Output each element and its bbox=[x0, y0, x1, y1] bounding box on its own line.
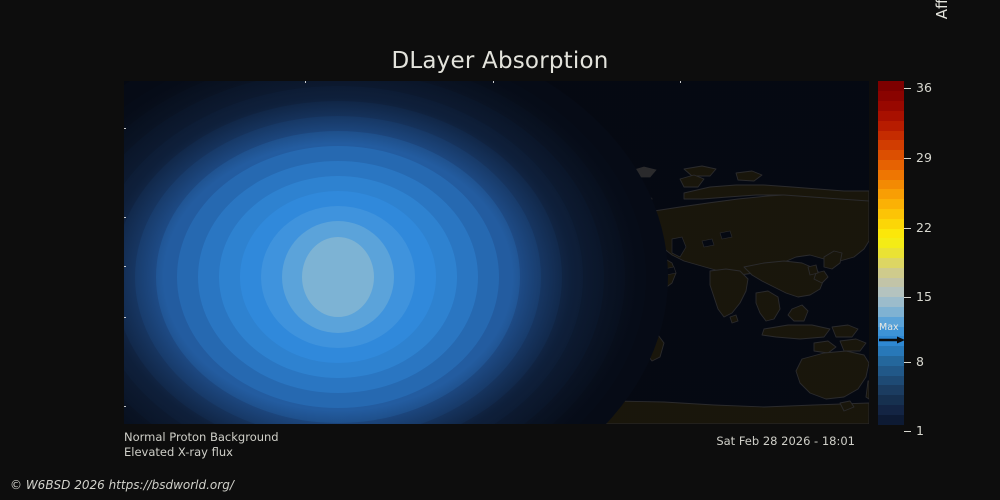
colorbar-segment bbox=[878, 130, 904, 140]
colorbar-segment bbox=[878, 414, 904, 424]
colorbar-segment bbox=[878, 287, 904, 297]
colorbar-segment bbox=[878, 267, 904, 277]
colorbar-segment bbox=[878, 120, 904, 130]
colorbar-segment bbox=[878, 355, 904, 365]
colorbar-segment bbox=[878, 306, 904, 316]
colorbar-tick-labels: 3629221581 bbox=[904, 74, 950, 431]
colorbar-segment bbox=[878, 91, 904, 101]
colorbar-segment bbox=[878, 316, 904, 326]
copyright-notice: © W6BSD 2026 https://bsdworld.org/ bbox=[10, 478, 234, 492]
colorbar-segment bbox=[878, 218, 904, 228]
colorbar-tick-value: 8 bbox=[916, 354, 924, 369]
tick-dash-icon bbox=[904, 297, 911, 298]
colorbar-tick-value: 29 bbox=[916, 150, 932, 165]
tick-dash-icon bbox=[904, 88, 911, 89]
colorbar-segment bbox=[878, 228, 904, 238]
colorbar-segment bbox=[878, 110, 904, 120]
colorbar-segment bbox=[878, 189, 904, 199]
colorbar-segment bbox=[878, 346, 904, 356]
colorbar-tick: 15 bbox=[904, 290, 932, 304]
tick-dash-icon bbox=[904, 431, 911, 432]
colorbar-segment bbox=[878, 257, 904, 267]
colorbar-segment bbox=[878, 404, 904, 414]
colorbar-segment bbox=[878, 159, 904, 169]
colorbar-segment bbox=[878, 81, 904, 91]
colorbar-segment bbox=[878, 238, 904, 248]
colorbar-segment bbox=[878, 385, 904, 395]
colorbar-segment bbox=[878, 150, 904, 160]
colorbar-segment bbox=[878, 208, 904, 218]
dlayer-absorption-plot: DLayer Absorption .land { fill: #6b5410;… bbox=[0, 0, 1000, 500]
colorbar-segment bbox=[878, 199, 904, 209]
colorbar-gradient bbox=[878, 81, 904, 424]
colorbar-segment bbox=[878, 277, 904, 287]
colorbar-segment bbox=[878, 179, 904, 189]
colorbar-tick: 1 bbox=[904, 424, 924, 438]
tick-dash-icon bbox=[904, 158, 911, 159]
colorbar[interactable] bbox=[878, 81, 904, 424]
colorbar-segment bbox=[878, 101, 904, 111]
colorbar-tick-value: 15 bbox=[916, 289, 932, 304]
timestamp: Sat Feb 28 2026 - 18:01 bbox=[0, 434, 855, 448]
colorbar-tick: 36 bbox=[904, 81, 932, 95]
colorbar-segment bbox=[878, 248, 904, 258]
colorbar-segment bbox=[878, 297, 904, 307]
world-map[interactable]: .land { fill: #6b5410; stroke: #b9b3a6; … bbox=[124, 81, 869, 424]
colorbar-segment bbox=[878, 365, 904, 375]
colorbar-axis-label: Affected Frequency (MHz) bbox=[929, 0, 955, 94]
colorbar-tick-value: 1 bbox=[916, 423, 924, 438]
colorbar-segment bbox=[878, 326, 904, 336]
colorbar-segment bbox=[878, 140, 904, 150]
colorbar-tick: 29 bbox=[904, 151, 932, 165]
tick-dash-icon bbox=[904, 362, 911, 363]
colorbar-tick-value: 22 bbox=[916, 220, 932, 235]
colorbar-segment bbox=[878, 336, 904, 346]
tick-dash-icon bbox=[904, 228, 911, 229]
colorbar-segment bbox=[878, 169, 904, 179]
colorbar-tick: 22 bbox=[904, 221, 932, 235]
page-title: DLayer Absorption bbox=[0, 48, 1000, 74]
colorbar-segment bbox=[878, 395, 904, 405]
colorbar-segment bbox=[878, 375, 904, 385]
world-map-coastlines: .land { fill: #6b5410; stroke: #b9b3a6; … bbox=[124, 81, 869, 424]
colorbar-tick: 8 bbox=[904, 355, 924, 369]
